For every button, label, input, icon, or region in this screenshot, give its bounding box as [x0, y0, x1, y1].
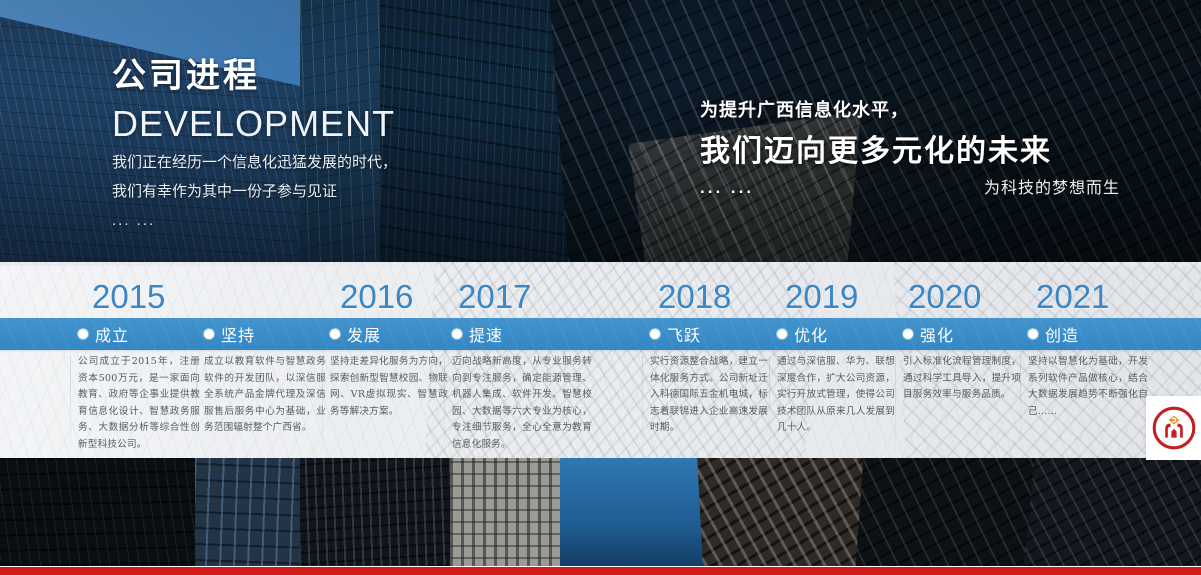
hero-subtitle-line2: 我们有幸作为其中一份子参与见证 — [112, 180, 397, 203]
milestone-label: 坚持 — [221, 322, 255, 346]
milestone-dot-icon — [452, 329, 462, 339]
timeline-year-2016: 2016 — [340, 278, 413, 316]
hero-right-text: 为提升广西信息化水平， 我们迈向更多元化的未来 ... ... 为科技的梦想而生 — [700, 96, 1120, 198]
milestone-2[interactable]: 坚持 — [204, 318, 255, 350]
milestone-dot-icon — [204, 329, 214, 339]
timeline-description-2: 成立以教育软件与智慧政务软件的开发团队，以深信服全系统产品金牌代理及深信服售后服… — [204, 354, 326, 437]
timeline-description-7: 引入标准化流程管理制度，通过科学工具导入，提升项目服务效率与服务品质。 — [903, 354, 1021, 404]
bottom-banner — [0, 458, 1201, 569]
milestone-3[interactable]: 发展 — [330, 318, 381, 350]
bottom-building-3 — [300, 458, 460, 569]
column-divider — [895, 356, 896, 452]
company-logo — [1146, 396, 1201, 460]
column-divider — [642, 356, 643, 452]
milestone-label: 发展 — [347, 322, 381, 346]
milestone-7[interactable]: 强化 — [903, 318, 954, 350]
milestone-label: 成立 — [95, 322, 129, 346]
timeline-year-2015: 2015 — [92, 278, 165, 316]
milestone-dot-icon — [777, 329, 787, 339]
timeline-year-2019: 2019 — [785, 278, 858, 316]
hero-banner: 公司进程 DEVELOPMENT 我们正在经历一个信息化迅猛发展的时代， 我们有… — [0, 0, 1201, 268]
milestone-dot-icon — [903, 329, 913, 339]
timeline-year-2021: 2021 — [1036, 278, 1109, 316]
column-divider — [769, 356, 770, 452]
timeline-description-3: 坚持走差异化服务为方向，探索创新型智慧校园、物联网、VR虚拟现实、智慧政务等解决… — [330, 354, 448, 420]
milestone-8[interactable]: 创造 — [1028, 318, 1079, 350]
hero-tagline-line1: 为提升广西信息化水平， — [700, 96, 1120, 122]
milestone-label: 优化 — [794, 322, 828, 346]
milestone-6[interactable]: 优化 — [777, 318, 828, 350]
hero-subtitle-line1: 我们正在经历一个信息化迅猛发展的时代， — [112, 151, 397, 174]
bottom-building-7 — [1023, 458, 1201, 569]
timeline-description-4: 迈向战略新高度，从专业服务转向到专注服务，确定能源管理、机器人集成、软件开发、智… — [452, 354, 592, 453]
milestone-dot-icon — [78, 329, 88, 339]
page-title-english: DEVELOPMENT — [112, 103, 397, 145]
hero-left-ellipsis: ... ... — [112, 212, 397, 229]
timeline-panel: 2015201620172018201920202021 成立坚持发展提速飞跃优… — [0, 262, 1201, 460]
timeline-year-2018: 2018 — [658, 278, 731, 316]
page-title: 公司进程 — [112, 48, 397, 97]
milestone-label: 提速 — [469, 322, 503, 346]
milestone-1[interactable]: 成立 — [78, 318, 129, 350]
timeline-description-columns: 公司成立于2015年，注册资本500万元，是一家面向教育、政府等企事业提供教育信… — [0, 354, 1201, 460]
milestone-dot-icon — [650, 329, 660, 339]
milestone-4[interactable]: 提速 — [452, 318, 503, 350]
milestone-label: 创造 — [1045, 322, 1079, 346]
bottom-building-2 — [195, 458, 315, 569]
timeline-description-6: 通过与深信服、华为、联想深度合作，扩大公司资源，实行开放式管理，使得公司技术团队… — [777, 354, 895, 437]
hero-slogan: 为科技的梦想而生 — [984, 174, 1120, 198]
hero-left-text: 公司进程 DEVELOPMENT 我们正在经历一个信息化迅猛发展的时代， 我们有… — [112, 48, 397, 229]
timeline-description-8: 坚持以智慧化为基础，开发系列软件产品做核心，结合大数据发展趋势不断强化自己...… — [1028, 354, 1148, 420]
bottom-building-4 — [450, 458, 560, 569]
timeline-year-2020: 2020 — [908, 278, 981, 316]
hero-tagline-bottom-row: ... ... 为科技的梦想而生 — [700, 174, 1120, 198]
milestone-5[interactable]: 飞跃 — [650, 318, 701, 350]
timeline-year-2017: 2017 — [458, 278, 531, 316]
milestone-label: 强化 — [920, 322, 954, 346]
timeline-description-5: 实行资源整合战略，建立一体化服务方式。公司新址迁入科德国际五金机电城，标志着联锦… — [650, 354, 768, 437]
hero-tagline-line2: 我们迈向更多元化的未来 — [700, 126, 1120, 170]
timeline-description-1: 公司成立于2015年，注册资本500万元，是一家面向教育、政府等企事业提供教育信… — [78, 354, 200, 453]
column-divider — [70, 356, 71, 452]
slide-root: 公司进程 DEVELOPMENT 我们正在经历一个信息化迅猛发展的时代， 我们有… — [0, 0, 1201, 575]
timeline-milestone-band: 成立坚持发展提速飞跃优化强化创造 — [0, 318, 1201, 350]
company-logo-icon — [1152, 406, 1196, 450]
milestone-dot-icon — [1028, 329, 1038, 339]
milestone-label: 飞跃 — [667, 322, 701, 346]
footer-accent-strip — [0, 566, 1201, 575]
hero-right-ellipsis: ... ... — [700, 178, 754, 198]
milestone-dot-icon — [330, 329, 340, 339]
